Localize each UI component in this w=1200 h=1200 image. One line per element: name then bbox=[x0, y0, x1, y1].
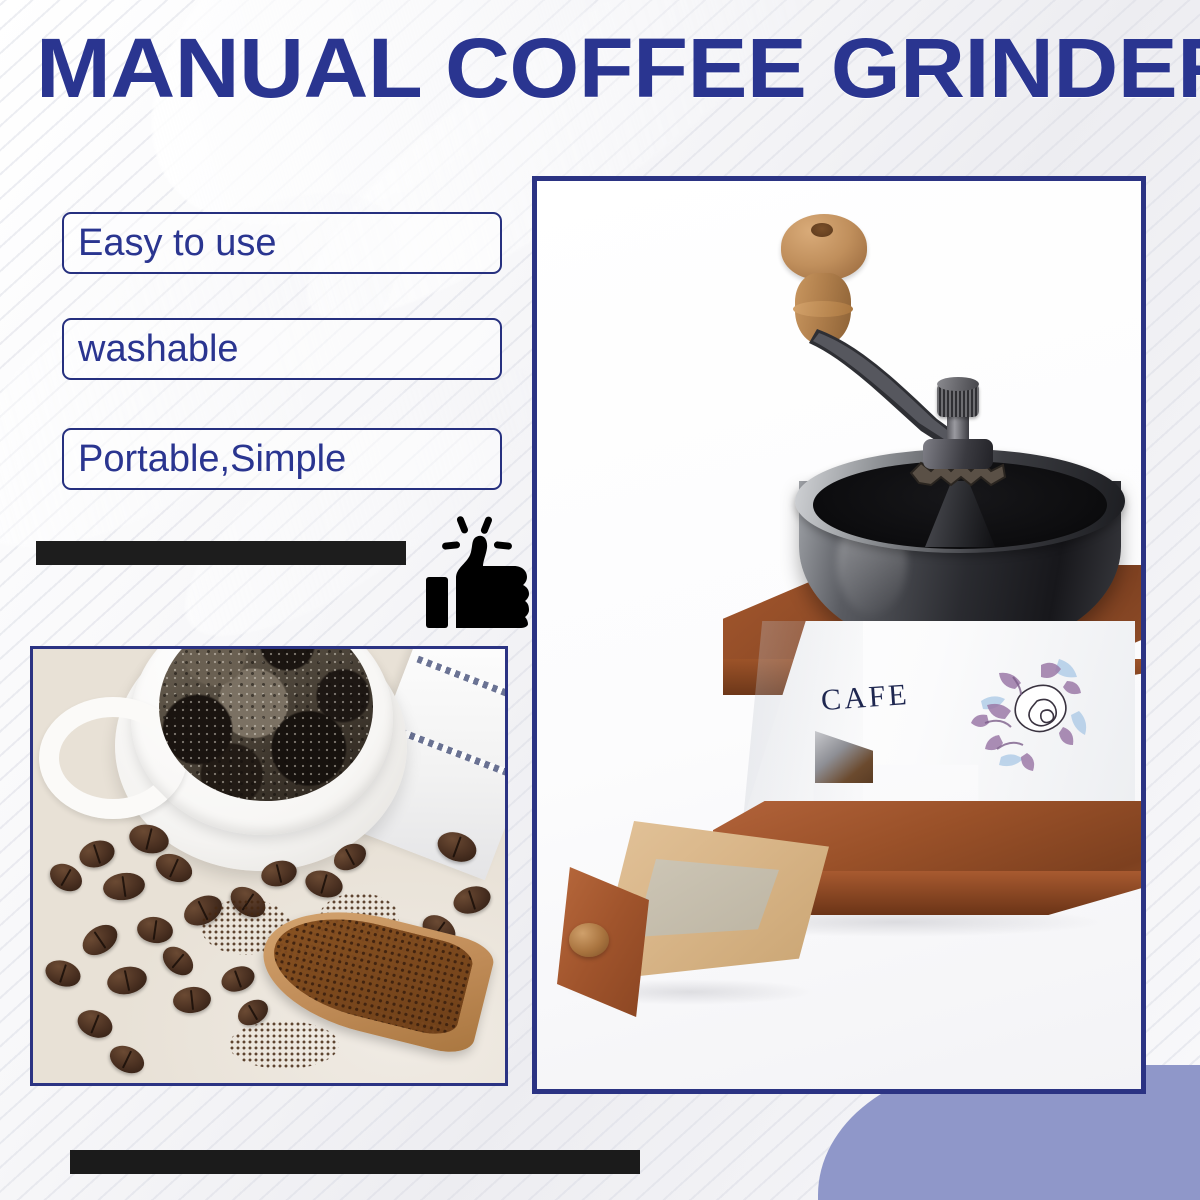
grinder-illustration: CAFE bbox=[537, 181, 1141, 1089]
adjustment-nut-cap bbox=[937, 377, 979, 391]
drawer-knob bbox=[569, 923, 609, 957]
catch-drawer bbox=[557, 813, 835, 1025]
crank-knob-ring bbox=[793, 301, 853, 317]
coffee-cup-photo bbox=[30, 646, 508, 1086]
ground-coffee-spill bbox=[229, 1021, 339, 1069]
divider-bar-top bbox=[36, 541, 406, 565]
thumbs-up-icon bbox=[426, 506, 530, 628]
crank-knob-dimple bbox=[811, 223, 833, 237]
feature-box-washable: washable bbox=[62, 318, 502, 380]
floral-decal bbox=[967, 653, 1099, 785]
feature-label: Portable,Simple bbox=[78, 438, 346, 481]
feature-box-easy-to-use: Easy to use bbox=[62, 212, 502, 274]
product-image-panel: CAFE bbox=[532, 176, 1146, 1094]
feature-label: Easy to use bbox=[78, 222, 277, 265]
product-poster: MANUAL COFFEE GRINDER Easy to use washab… bbox=[0, 0, 1200, 1200]
divider-bar-bottom bbox=[70, 1150, 640, 1174]
shaft-hub bbox=[923, 439, 993, 469]
cafe-brand-text: CAFE bbox=[820, 678, 911, 718]
crank-arm bbox=[809, 323, 1009, 453]
page-title: MANUAL COFFEE GRINDER bbox=[36, 26, 1200, 110]
feature-box-portable-simple: Portable,Simple bbox=[62, 428, 502, 490]
feature-label: washable bbox=[78, 328, 239, 371]
